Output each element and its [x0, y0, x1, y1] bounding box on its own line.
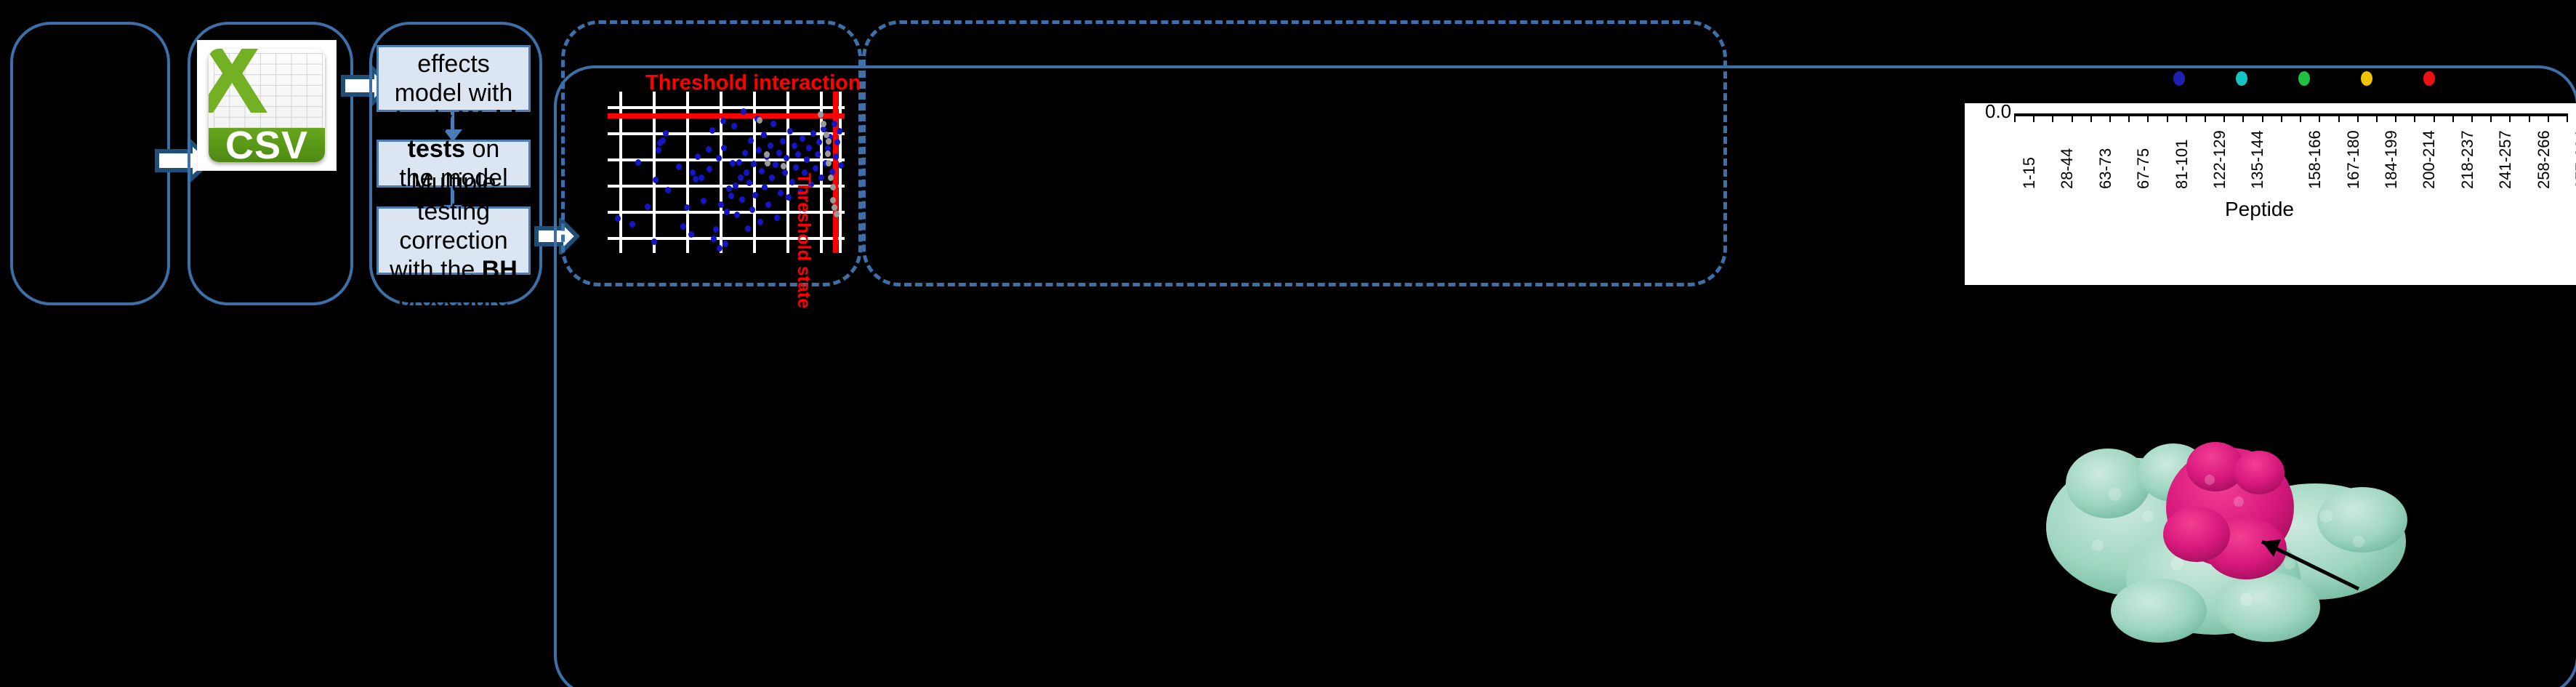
structure-panel [862, 20, 1727, 286]
scatter-point [800, 135, 805, 142]
x-axis-tick [2509, 113, 2511, 122]
scatter-point [768, 142, 773, 149]
threshold-interaction-line [608, 113, 845, 118]
x-axis-tick [2072, 113, 2073, 122]
x-axis-tick [2052, 113, 2053, 122]
legend-dot [2423, 71, 2435, 86]
scatter-point [707, 166, 712, 172]
scatter-point [826, 138, 832, 145]
scatter-point [804, 156, 810, 163]
x-axis-tick-label: 135-144 [2248, 130, 2267, 189]
scatter-point [706, 146, 712, 153]
peptide-structure-card: 0.0 1-1528-4463-7367-7581-101122-129135-… [1965, 103, 2576, 285]
x-axis-tick [2223, 113, 2225, 122]
x-axis-tick [2338, 113, 2340, 122]
scatter-point [778, 190, 784, 196]
legend-dot [2236, 71, 2247, 86]
scatter-point [676, 164, 682, 170]
x-axis-tick [2262, 113, 2263, 122]
scatter-point [792, 142, 797, 149]
x-axis-tick [2186, 113, 2187, 122]
scatter-point [781, 163, 786, 169]
x-axis-ticks [1965, 113, 2576, 124]
scatter-point [660, 137, 666, 144]
scatter-point [834, 139, 840, 145]
scatter-point [720, 118, 726, 124]
scatter-point [680, 223, 686, 230]
scatter-point [833, 153, 839, 160]
x-axis-tick-label: 28-44 [2058, 148, 2077, 189]
x-axis-tick [2014, 113, 2016, 122]
x-axis-tick-label: 277-284 [2572, 130, 2576, 189]
scatter-point [769, 174, 775, 181]
x-axis-tick-label: 158-166 [2306, 130, 2325, 189]
x-axis-tick [2376, 113, 2378, 122]
scatter-point [776, 150, 782, 156]
csv-file-icon: X CSV [198, 41, 336, 170]
scatter-point [749, 206, 755, 213]
scatter-point [765, 201, 771, 208]
scatter-point [834, 211, 840, 217]
scatter-point [757, 219, 763, 225]
scatter-point [770, 121, 776, 127]
scatter-point [826, 160, 832, 166]
scatter-point [780, 138, 786, 145]
scatter-point [810, 130, 816, 137]
x-axis-tick-label: 184-199 [2382, 130, 2401, 189]
scatter-point [744, 169, 749, 176]
chart-legend [1963, 65, 2576, 95]
scatter-point [741, 108, 746, 115]
legend-dot [2173, 71, 2185, 86]
scatter-point [828, 174, 834, 181]
workflow-figure: X CSV Fit a linear mixed-effects model w… [0, 0, 2576, 687]
x-axis-tick [2147, 113, 2149, 122]
scatter-point [615, 215, 621, 222]
scatter-point [733, 182, 738, 189]
scatter-point [773, 161, 778, 168]
legend-dot [2361, 71, 2372, 86]
excel-x-icon: X [211, 49, 252, 108]
x-axis-tick [2548, 113, 2549, 122]
fit-model-box: Fit a linear mixed-effects model withREM… [377, 45, 531, 112]
x-axis-tick-label: 122-129 [2210, 130, 2229, 189]
scatter-point [838, 162, 844, 169]
x-axis-tick-label: 67-75 [2134, 148, 2153, 189]
scatter-point [751, 161, 757, 167]
x-axis-tick [2529, 113, 2530, 122]
x-axis-tick [2109, 113, 2111, 122]
scatter-point [756, 147, 762, 153]
scatter-point [795, 151, 801, 158]
scatter-point [837, 128, 842, 134]
multiple-testing-text: Multiple testingcorrectionwith the BH pr… [386, 168, 521, 314]
x-axis-tick [2319, 113, 2320, 122]
scatter-point [815, 151, 821, 158]
scatter-point [786, 194, 792, 201]
scatter-point [723, 241, 728, 247]
scatter-point [813, 165, 818, 172]
scatter-point [793, 164, 799, 171]
scatter-point [736, 159, 742, 166]
scatter-point [806, 145, 812, 151]
multiple-testing-box: Multiple testingcorrectionwith the BH pr… [377, 206, 531, 275]
scatter-point [730, 160, 736, 166]
scatter-point [832, 121, 837, 127]
x-axis-tick [2414, 113, 2415, 122]
scatter-point [825, 150, 831, 157]
threshold-state-label: Threshold state [793, 173, 814, 308]
csv-icon-body: X CSV [209, 49, 325, 163]
x-axis-tick [2128, 113, 2130, 122]
x-axis-tick [2167, 113, 2168, 122]
scatter-point [731, 123, 737, 129]
scatter-point [818, 174, 824, 181]
scatter-point [713, 226, 719, 233]
scatter-point [684, 204, 690, 211]
x-axis-tick-label: 218-237 [2458, 130, 2477, 189]
x-axis-tick [2205, 113, 2206, 122]
scatter-point [665, 187, 671, 193]
x-axis-tick-labels: 1-1528-4463-7367-7581-101122-129135-1441… [1965, 125, 2576, 190]
scatter-point [752, 192, 758, 198]
scatter-point [716, 155, 722, 161]
scatter-point [782, 169, 788, 176]
scatter-point [651, 238, 657, 245]
x-axis-tick [2242, 113, 2244, 122]
scatter-point [746, 180, 752, 186]
x-axis-tick [2357, 113, 2359, 122]
scatter-point [728, 193, 734, 199]
scatter-point [701, 198, 707, 204]
x-axis-tick [2490, 113, 2492, 122]
scatter-point [699, 174, 704, 181]
input-panel [10, 22, 170, 305]
x-axis-tick [2281, 113, 2282, 122]
legend-dot [2298, 71, 2310, 86]
scatter-point [711, 236, 717, 242]
x-axis-tick-label: 63-73 [2096, 148, 2115, 189]
x-axis-tick-label: 241-257 [2496, 130, 2515, 189]
scatter-point [629, 221, 635, 228]
x-axis-tick [2395, 113, 2396, 122]
scatter-point [718, 201, 724, 208]
x-axis-tick-label: 1-15 [2020, 157, 2039, 189]
x-axis-tick [2300, 113, 2301, 122]
scatter-point [734, 212, 740, 218]
x-axis-tick-label: 167-180 [2344, 130, 2363, 189]
scatter-point [690, 169, 696, 176]
binding-interface-label: Binding interface [2441, 531, 2576, 576]
x-axis-caption: Peptide [2225, 198, 2294, 221]
scatter-figure: Threshold interaction Threshold state [574, 35, 846, 268]
binding-interface-text: Binding interface [2441, 531, 2516, 575]
x-axis-tick-label: 258-266 [2535, 130, 2553, 189]
scatter-point [688, 231, 694, 238]
scatter-point [830, 184, 836, 190]
scatter-point [739, 196, 745, 203]
scatter-point [663, 130, 669, 137]
scatter-point [656, 147, 661, 153]
scatter-point [761, 132, 767, 138]
csv-band-label: CSV [209, 128, 325, 162]
x-axis-tick-label: 200-214 [2420, 130, 2439, 189]
scatter-point [757, 117, 762, 124]
x-axis-tick [2567, 113, 2568, 122]
scatter-point [635, 159, 641, 166]
scatter-point [742, 150, 748, 156]
scatter-point [759, 168, 765, 174]
scatter-point [645, 204, 651, 210]
x-axis-tick [2471, 113, 2473, 122]
scatter-point [762, 184, 768, 190]
scatter-point [745, 225, 751, 232]
scatter-point [721, 145, 727, 151]
scatter-point [748, 137, 754, 144]
scatter-point [726, 185, 732, 192]
scatter-point [724, 209, 730, 215]
scatter-point [653, 177, 659, 183]
x-axis-tick [2434, 113, 2435, 122]
scatter-point [765, 160, 770, 166]
x-axis-tick [2090, 113, 2092, 122]
scatter-point [774, 214, 780, 221]
protein-structure-image [2028, 407, 2435, 647]
scatter-point [738, 174, 744, 181]
x-axis-tick-label: 81-101 [2173, 139, 2191, 189]
x-axis-tick [2033, 113, 2034, 122]
x-axis-tick [2452, 113, 2454, 122]
scatter-point [824, 132, 829, 138]
